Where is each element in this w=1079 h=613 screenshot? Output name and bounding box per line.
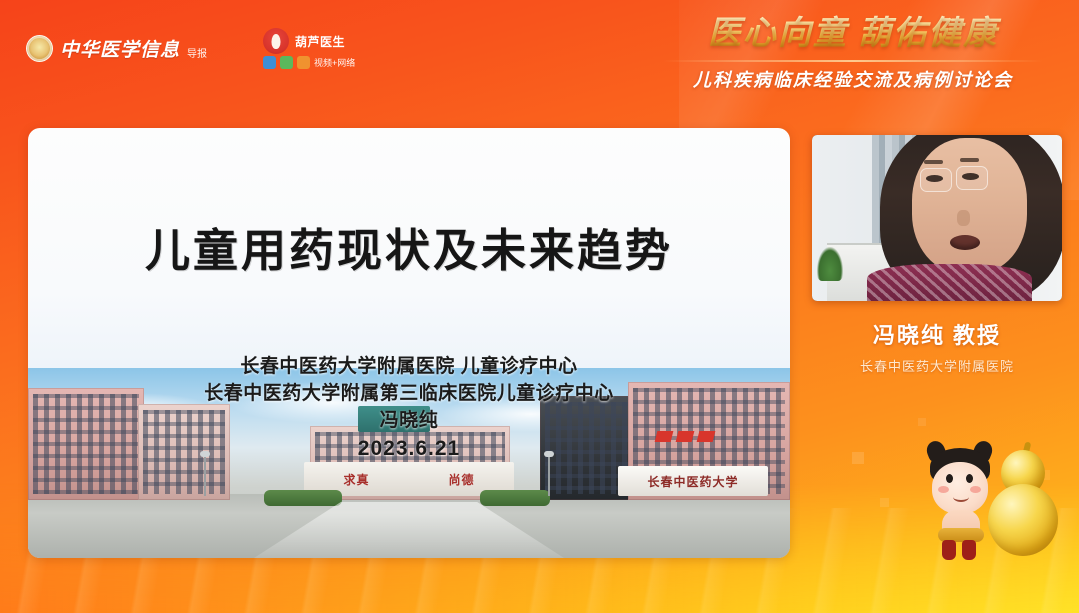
stone-text-right: 尚德 bbox=[448, 471, 474, 488]
speaker-mouth bbox=[950, 235, 980, 250]
hulu-logo-bottom-row: 视频+网络 bbox=[263, 56, 355, 69]
cma-seal-icon bbox=[26, 35, 53, 62]
speaker-organization: 长春中医药大学附属医院 bbox=[812, 356, 1062, 375]
eyebrow-left bbox=[924, 160, 943, 164]
hulu-logo-tagline: 视频+网络 bbox=[314, 56, 355, 69]
mascot-calabash-boy bbox=[916, 436, 1066, 576]
webcam-plant bbox=[817, 247, 843, 281]
speaker-shirt bbox=[867, 264, 1032, 301]
speaker-nose bbox=[957, 210, 970, 226]
affiliation-line: 长春中医药大学附属医院 儿童诊疗中心 bbox=[28, 354, 790, 381]
cma-wordmark-suffix: 导报 bbox=[187, 45, 207, 62]
hulu-logo-top-row: 葫芦医生 bbox=[263, 28, 355, 54]
affiliation-line: 长春中医药大学附属第三临床医院儿童诊疗中心 bbox=[28, 381, 790, 408]
speaker-name: 冯晓纯 教授 bbox=[812, 318, 1062, 350]
speaker-face bbox=[912, 138, 1027, 274]
eyebrow-right bbox=[960, 158, 979, 162]
chip-orange-icon bbox=[297, 56, 310, 69]
chip-green-icon bbox=[280, 56, 293, 69]
mascot-boot-right bbox=[962, 540, 976, 560]
hulu-logo-title: 葫芦医生 bbox=[295, 33, 345, 50]
affiliation-line: 冯晓纯 bbox=[28, 408, 790, 435]
broadcast-stage: 中华医学信息 导报 葫芦医生 视频+网络 医心向童 葫佑健康 儿科疾病临床经验交… bbox=[0, 0, 1079, 613]
gourd-badge-icon bbox=[263, 28, 289, 54]
street-lamp bbox=[548, 456, 550, 496]
event-header: 医心向童 葫佑健康 儿科疾病临床经验交流及病例讨论会 bbox=[653, 14, 1053, 92]
mascot-cheek-right bbox=[970, 486, 981, 493]
hedge bbox=[264, 490, 342, 506]
mascot-cheek-left bbox=[938, 486, 949, 493]
campus-gate-sign: 长春中医药大学 bbox=[618, 466, 768, 496]
event-title-divider bbox=[663, 60, 1043, 62]
mascot-smile bbox=[953, 492, 969, 502]
sponsor-logo-row: 中华医学信息 导报 葫芦医生 视频+网络 bbox=[26, 28, 355, 69]
event-title: 医心向童 葫佑健康 bbox=[653, 14, 1053, 55]
mascot-boot-left bbox=[942, 540, 956, 560]
chip-blue-icon bbox=[263, 56, 276, 69]
speaker-caption: 冯晓纯 教授 长春中医药大学附属医院 bbox=[812, 318, 1062, 375]
mascot-eye-right bbox=[966, 474, 973, 483]
logo-hulu-doctor[interactable]: 葫芦医生 视频+网络 bbox=[263, 28, 355, 69]
slide-title: 儿童用药现状及未来趋势 bbox=[28, 214, 790, 279]
slide-affiliation-block: 长春中医药大学附属医院 儿童诊疗中心 长春中医药大学附属第三临床医院儿童诊疗中心… bbox=[28, 354, 790, 461]
mascot-figure bbox=[924, 448, 1004, 564]
stone-text-left: 求真 bbox=[343, 471, 369, 488]
speaker-webcam[interactable] bbox=[812, 135, 1062, 301]
logo-china-medical-journal[interactable]: 中华医学信息 导报 bbox=[26, 35, 207, 62]
hedge bbox=[480, 490, 550, 506]
presentation-slide[interactable]: 儿童用药现状及未来趋势 长春中医药大学附属医院 儿童诊疗中心 长春中医药大学附属… bbox=[28, 128, 790, 558]
street-lamp bbox=[204, 456, 206, 496]
slide-date: 2023.6.21 bbox=[28, 437, 790, 461]
event-subtitle: 儿科疾病临床经验交流及病例讨论会 bbox=[653, 66, 1053, 92]
cma-wordmark: 中华医学信息 bbox=[60, 35, 180, 62]
mascot-eye-left bbox=[946, 474, 953, 483]
